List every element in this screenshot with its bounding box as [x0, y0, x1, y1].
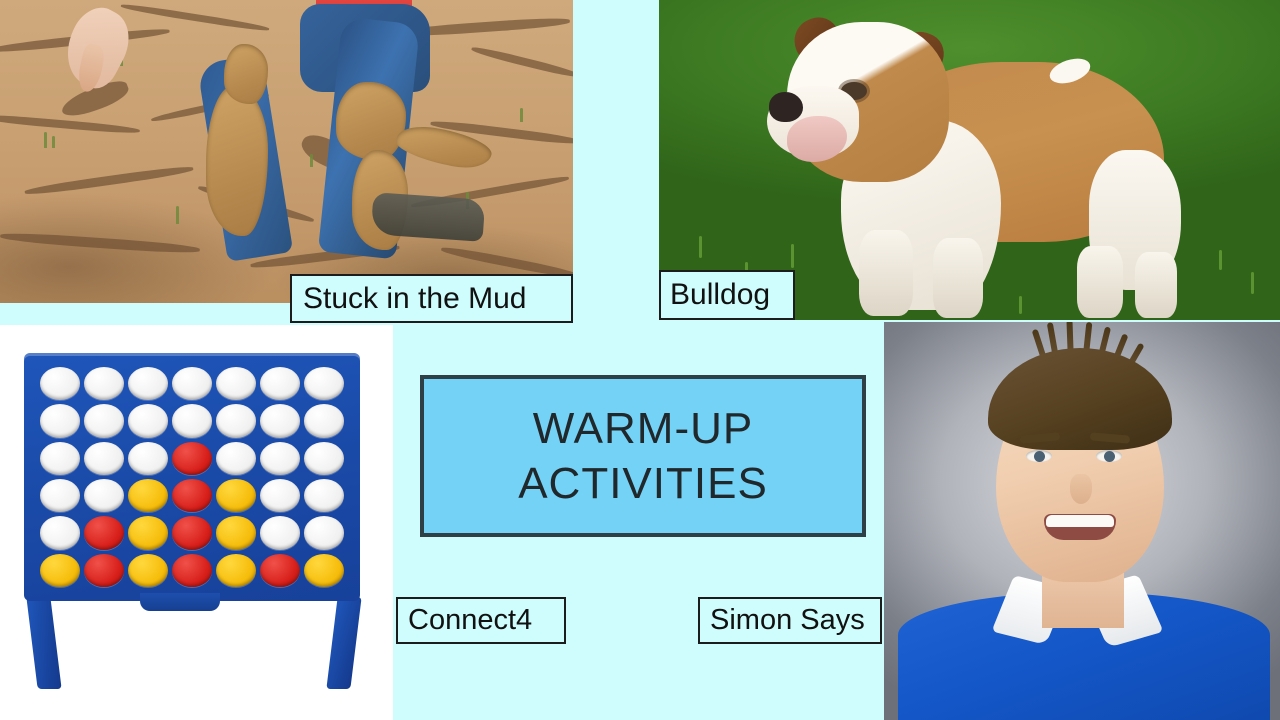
connect4-slot-r2c1	[40, 404, 80, 437]
bulldog-front-leg	[859, 230, 913, 316]
caption-stuck-in-the-mud[interactable]: Stuck in the Mud	[290, 274, 573, 323]
connect4-grid	[34, 361, 350, 593]
caption-connect4[interactable]: Connect4	[396, 597, 566, 644]
connect4-slot-r1c6	[260, 367, 300, 400]
connect4-slot-r4c7	[304, 479, 344, 512]
connect4-slot-r4c4	[172, 479, 212, 512]
connect4-slot-r6c1	[40, 554, 80, 587]
connect4-slot-r3c2	[84, 442, 124, 475]
connect4-slot-r5c7	[304, 516, 344, 549]
connect4-slot-r1c3	[128, 367, 168, 400]
connect4-slot-r1c7	[304, 367, 344, 400]
bulldog-hind-leg-2	[1135, 252, 1177, 318]
portrait-pupil-right	[1104, 451, 1115, 462]
connect4-slot-r1c2	[84, 367, 124, 400]
connect4-slot-r2c7	[304, 404, 344, 437]
title-line-1: WARM-UP	[533, 401, 753, 456]
connect4-leg-right	[326, 597, 361, 689]
connect4-slot-r5c2	[84, 516, 124, 549]
portrait-mouth	[1044, 514, 1116, 540]
connect4-slot-r3c5	[216, 442, 256, 475]
photo-simon-says-presenter	[884, 322, 1280, 720]
connect4-slot-r4c6	[260, 479, 300, 512]
connect4-slot-r4c2	[84, 479, 124, 512]
bulldog-nose	[769, 92, 803, 122]
connect4-slot-r5c6	[260, 516, 300, 549]
portrait-teeth	[1046, 515, 1114, 527]
connect4-slot-r4c1	[40, 479, 80, 512]
connect4-slot-r2c2	[84, 404, 124, 437]
portrait-pupil-left	[1034, 451, 1045, 462]
caption-bulldog[interactable]: Bulldog	[659, 270, 795, 320]
connect4-slot-r1c1	[40, 367, 80, 400]
bulldog-hind-leg	[1077, 246, 1123, 318]
connect4-slot-r4c3	[128, 479, 168, 512]
connect4-slot-r5c4	[172, 516, 212, 549]
connect4-slot-r3c4	[172, 442, 212, 475]
title-line-2: ACTIVITIES	[518, 456, 768, 511]
connect4-slot-r2c3	[128, 404, 168, 437]
connect4-slot-r3c7	[304, 442, 344, 475]
connect4-slot-r6c2	[84, 554, 124, 587]
slide-title-box[interactable]: WARM-UP ACTIVITIES	[420, 375, 866, 537]
slide-canvas: Stuck in the Mud Bulldog Connect4 Simon …	[0, 0, 1280, 720]
connect4-slot-r3c6	[260, 442, 300, 475]
connect4-slot-r1c5	[216, 367, 256, 400]
connect4-slot-r3c1	[40, 442, 80, 475]
connect4-tray	[140, 593, 220, 611]
mud-photo-shoe	[371, 192, 486, 242]
connect4-leg-left	[26, 597, 61, 689]
connect4-slot-r5c5	[216, 516, 256, 549]
connect4-slot-r2c5	[216, 404, 256, 437]
portrait-hair	[988, 348, 1172, 450]
bulldog-front-leg-2	[933, 238, 983, 318]
connect4-slot-r6c5	[216, 554, 256, 587]
connect4-slot-r2c4	[172, 404, 212, 437]
connect4-slot-r2c6	[260, 404, 300, 437]
connect4-slot-r5c1	[40, 516, 80, 549]
connect4-slot-r4c5	[216, 479, 256, 512]
connect4-slot-r6c3	[128, 554, 168, 587]
photo-connect4-board	[0, 325, 393, 720]
connect4-slot-r6c4	[172, 554, 212, 587]
portrait-nose	[1070, 474, 1092, 504]
connect4-slot-r1c4	[172, 367, 212, 400]
connect4-slot-r3c3	[128, 442, 168, 475]
connect4-slot-r6c7	[304, 554, 344, 587]
connect4-slot-r6c6	[260, 554, 300, 587]
connect4-slot-r5c3	[128, 516, 168, 549]
caption-simon-says[interactable]: Simon Says	[698, 597, 882, 644]
photo-stuck-in-the-mud	[0, 0, 573, 303]
